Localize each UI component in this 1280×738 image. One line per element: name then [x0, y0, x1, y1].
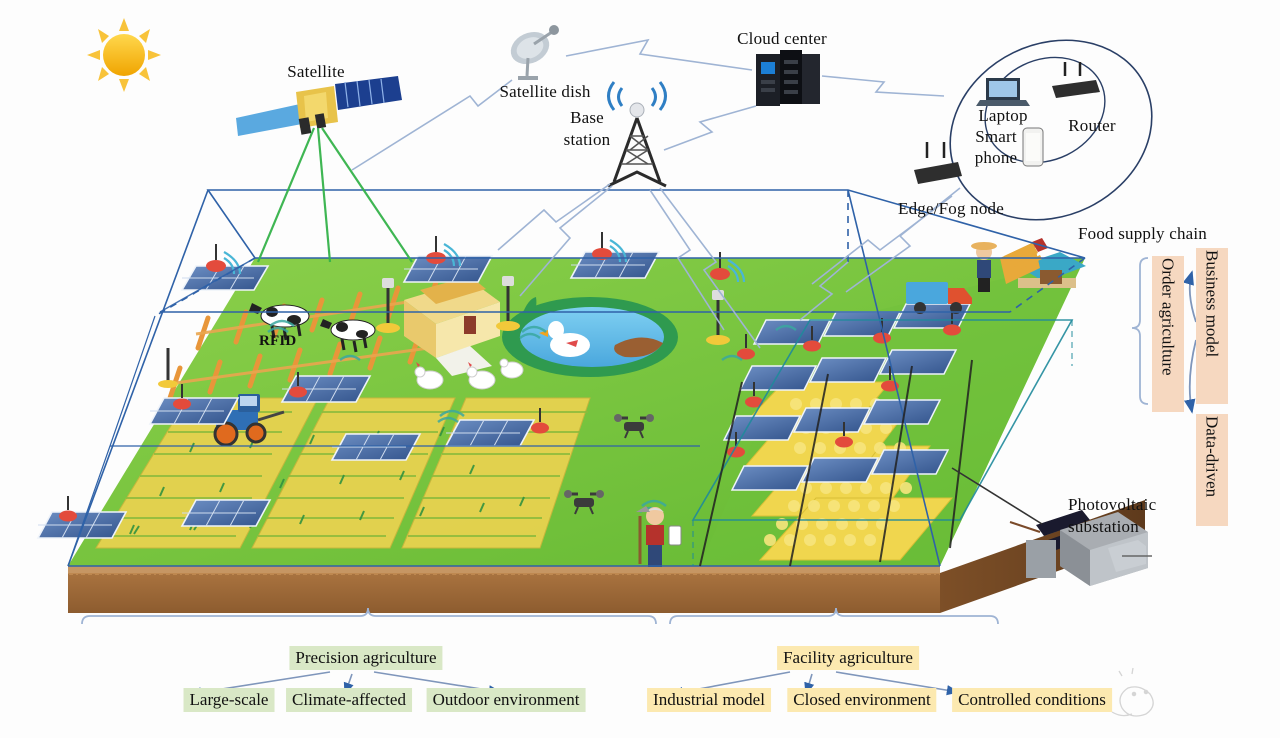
- base-station-label-line2: station: [564, 130, 611, 150]
- facility-agriculture-title: Facility agriculture: [777, 646, 919, 670]
- rfid-label: RFID: [259, 333, 296, 350]
- watermark-doodle: [1112, 668, 1153, 716]
- smartphone-icon: [1023, 128, 1043, 166]
- scene-illustration: [0, 0, 1280, 738]
- data-driven-label: Data-driven: [1196, 414, 1228, 526]
- base-station-label-line1: Base: [570, 108, 604, 128]
- food-supply-chain-label: Food supply chain: [1078, 224, 1207, 244]
- precision-agriculture-title: Precision agriculture: [289, 646, 442, 670]
- business-model-label: Business model: [1196, 248, 1228, 404]
- laptop-icon: [976, 78, 1030, 106]
- smart-phone-label-line1: Smart: [975, 127, 1017, 147]
- router-label: Router: [1068, 116, 1115, 136]
- right-bracket: [1132, 258, 1148, 404]
- facility-child-controlled-conditions: Controlled conditions: [952, 688, 1112, 712]
- satellite-dish-label: Satellite dish: [499, 82, 590, 102]
- facility-child-closed-environment: Closed environment: [787, 688, 936, 712]
- cloud-center-label: Cloud center: [737, 29, 827, 49]
- photovoltaic-label-line2: substation: [1068, 517, 1139, 537]
- router-icon-outer: [914, 142, 962, 184]
- photovoltaic-label-line1: Photovoltaic: [1068, 495, 1156, 515]
- sun-icon: [87, 18, 161, 92]
- satellite-icon: [236, 76, 412, 262]
- router-icon-inner: [1052, 62, 1100, 98]
- precision-child-large-scale: Large-scale: [184, 688, 275, 712]
- precision-child-climate-affected: Climate-affected: [286, 688, 412, 712]
- satellite-label: Satellite: [287, 62, 345, 82]
- cell-tower-icon: [608, 82, 666, 186]
- pond: [502, 297, 678, 377]
- facility-child-industrial-model: Industrial model: [647, 688, 771, 712]
- edge-fog-node-label: Edge/Fog node: [898, 199, 1004, 219]
- precision-child-outdoor-environment: Outdoor environment: [427, 688, 586, 712]
- smart-phone-label-line2: phone: [975, 148, 1018, 168]
- server-rack-icon: [756, 50, 820, 106]
- laptop-label: Laptop: [978, 106, 1027, 126]
- satellite-dish-icon: [506, 25, 559, 78]
- figure-canvas: Satellite Satellite dish Cloud center Ba…: [0, 0, 1280, 738]
- order-agriculture-label: Order agriculture: [1152, 256, 1184, 412]
- food-supply-chain-icon: [971, 238, 1086, 292]
